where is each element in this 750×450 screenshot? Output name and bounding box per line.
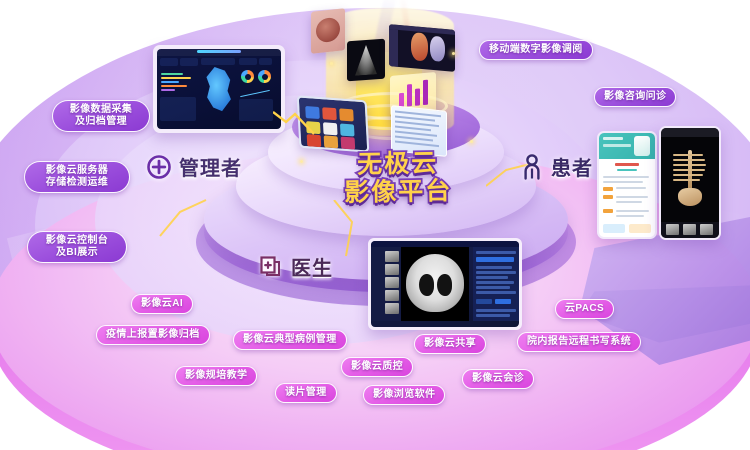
chip-label: 影像云共享 [424,338,476,349]
chip-line-2: 及归档管理 [75,116,127,127]
role-doctor[interactable]: 医生 [258,252,333,281]
role-label: 患者 [551,152,593,181]
chip-epidemic-report-archive[interactable]: 疫情上报置影像归档 [96,325,210,345]
panel-ultrasound-image [347,39,385,82]
chip-mobile-image-access[interactable]: 移动端数字影像调阅 [479,40,593,60]
chip-label: 影像规培教学 [185,370,247,381]
platform-title: 无极云 影像平台 [318,149,479,208]
chip-label: 读片管理 [285,387,327,398]
person-icon [520,153,544,181]
chip-line-2: 存储检测运维 [46,177,108,188]
chip-label: 疫情上报置影像归档 [106,329,200,340]
chip-line-1: 影像数据采集 [70,104,132,115]
chip-image-data-collection[interactable]: 影像数据采集 及归档管理 [52,100,150,132]
patient-report-phone [597,131,657,239]
chip-label: 影像云会诊 [472,373,524,384]
chip-label: 影像云典型病例管理 [243,334,337,345]
chip-label: 院内报告远程书写系统 [527,336,631,347]
chip-image-cloud-console-bi[interactable]: 影像云控制台 及BI展示 [27,231,127,263]
chip-image-cloud-qc[interactable]: 影像云质控 [341,357,413,377]
chip-typical-case-management[interactable]: 影像云典型病例管理 [233,330,347,350]
connector-bolt-admin [273,110,315,136]
chip-line-2: 及BI展示 [56,247,98,258]
chip-image-cloud-consultation[interactable]: 影像云会诊 [462,369,534,389]
chip-image-cloud-ai[interactable]: 影像云AI [131,294,193,314]
chip-label: 影像浏览软件 [373,389,435,400]
platform-title-line2: 影像平台 [318,177,478,208]
patient-3d-viewer-phone [659,126,721,240]
role-label: 医生 [291,252,333,281]
chip-remote-report-writing[interactable]: 院内报告远程书写系统 [517,332,641,352]
chip-line-1: 影像云控制台 [46,235,108,246]
role-patient[interactable]: 患者 [520,152,593,181]
spark-dot [470,140,473,143]
medical-record-plus-icon [258,254,284,280]
chip-image-viewer-software[interactable]: 影像浏览软件 [363,385,445,405]
chip-image-consultation[interactable]: 影像咨询问诊 [594,87,676,107]
infographic-canvas: 管理者 医生 患者 无极云 影像平台 影像数据采集 及归档管理 影像云服务器 存… [0,0,750,450]
chip-image-cloud-sharing[interactable]: 影像云共享 [414,334,486,354]
ct-workstation-screen [368,238,522,330]
chip-line-1: 影像云服务器 [46,165,108,176]
panel-endoscopy-image [311,8,345,54]
chip-label: 云PACS [565,303,604,314]
connector-doctor [330,200,380,260]
spark-dot [300,160,303,163]
panel-3d-organ-viewer [389,24,455,72]
chip-line-1: 移动端数字影像调阅 [489,44,583,55]
chip-label: 影像云质控 [351,361,403,372]
chip-line-1: 影像咨询问诊 [604,91,666,102]
connector-admin [150,196,210,242]
platform-title-line1: 无极云 [357,149,438,178]
chip-film-reading-management[interactable]: 读片管理 [275,383,337,403]
chip-image-cloud-server[interactable]: 影像云服务器 存储检测运维 [24,161,130,193]
circle-plus-icon [146,154,172,180]
chip-label: 影像云AI [141,298,183,309]
bi-dashboard-screen [153,45,285,133]
chip-cloud-pacs[interactable]: 云PACS [555,299,614,319]
spark-dot [330,62,333,65]
role-label: 管理者 [179,152,242,181]
role-administrator[interactable]: 管理者 [146,152,242,181]
spark-dot [452,52,455,55]
chip-standardized-training[interactable]: 影像规培教学 [175,366,257,386]
